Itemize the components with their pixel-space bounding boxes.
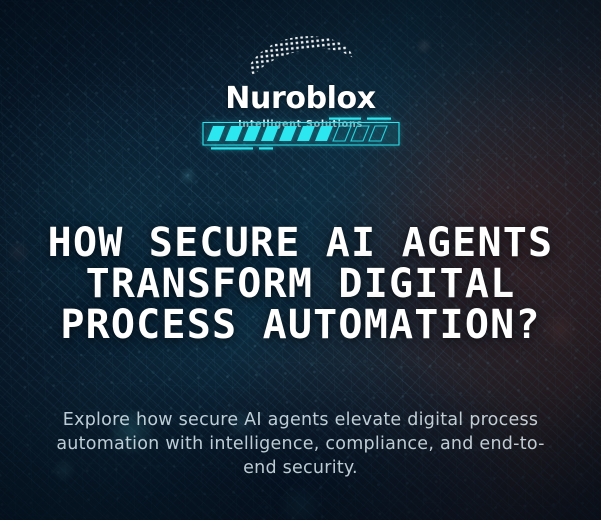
hero-banner: Nuroblox Intelligent Solutions [0, 0, 601, 520]
headline-line-3: PROCESS AUTOMATION? [0, 305, 601, 346]
progress-bar-icon [201, 117, 401, 150]
headline-line-2: TRANSFORM DIGITAL [0, 264, 601, 305]
brand-name: Nuroblox [225, 84, 375, 114]
brand-logo[interactable]: Nuroblox Intelligent Solutions [0, 36, 601, 130]
page-title: HOW SECURE AI AGENTS TRANSFORM DIGITAL P… [0, 223, 601, 346]
page-subtitle: Explore how secure AI agents elevate dig… [55, 408, 547, 480]
headline-line-1: HOW SECURE AI AGENTS [0, 223, 601, 264]
dotted-wave-grid-icon [247, 36, 355, 82]
